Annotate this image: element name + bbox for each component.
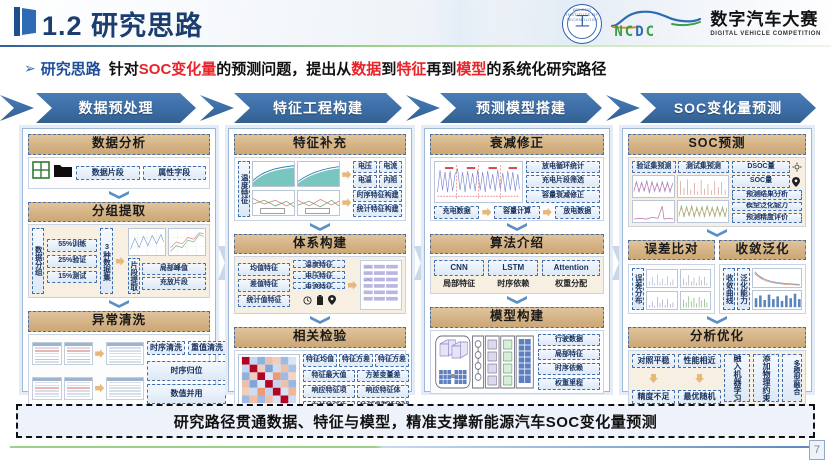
down-chevron-icon-1 (108, 190, 130, 201)
pill-stat-feature[interactable]: 统计值特征 (238, 295, 290, 308)
subtitle-h4: 模型 (456, 58, 486, 79)
pill-attribute-field[interactable]: 属性字段 (143, 166, 207, 180)
table-thumb-4 (32, 377, 62, 400)
flow-arrow-icon-1 (116, 257, 125, 266)
page-title: 1.2 研究思路 (42, 4, 203, 43)
pill-algo-cnn[interactable]: CNN (434, 260, 484, 276)
section-title-convergence: 收敛泛化 (719, 240, 806, 261)
section-title-group-extraction: 分组提取 (28, 202, 210, 223)
section-title-model-build: 模型构建 (430, 307, 604, 328)
section-body-analysis-optimization: 对照平稳 性能相近 精度不足 最优随机 融入机器学习 添加物理约束 多模型融合 (628, 350, 806, 406)
chart-feature-b (297, 161, 340, 187)
subtitle-h2: 数据 (351, 58, 381, 79)
pill-insufficient-accuracy[interactable]: 精度不足 (632, 390, 675, 404)
flow-arrow-icon-7 (482, 208, 491, 217)
section-title-system-build: 体系构建 (234, 234, 406, 255)
battery-icon (317, 292, 323, 310)
pill-voltage-feature[interactable]: 电压特征 (293, 271, 345, 279)
stage-banner-3[interactable]: 预测模型搭建 (440, 93, 602, 123)
pill-driving-data[interactable]: 行驶数据 (538, 334, 600, 346)
pill-physical-constraint[interactable]: 添加物理约束 (753, 354, 779, 402)
table-thumb-6 (106, 377, 144, 400)
network-diagram (434, 334, 535, 390)
footer-divider (10, 446, 822, 448)
gear-icon (792, 161, 802, 174)
pill-corr-7[interactable]: 响应特征体 (357, 385, 409, 398)
table-thumb-5 (64, 377, 94, 400)
pill-soc[interactable]: SOC量 (732, 175, 790, 188)
column-feature-engineering: 特征补充 温度特征 (228, 128, 412, 392)
subtitle-p1: 针对 (109, 58, 139, 79)
pill-dsoc[interactable]: DSOC量 (732, 161, 790, 174)
pill-charge-discharge-segment[interactable]: 充放片段 (142, 277, 206, 290)
pipeline-columns: 数据分析 数据片段 属性字段 分组提取 数据分组 55%训练 (0, 128, 831, 396)
section-title-algorithm-intro: 算法介绍 (430, 234, 604, 255)
pill-statistic-feature-build[interactable]: 统计特征构建 (353, 204, 402, 216)
subtitle-row: ➢ 研究思路 针对 SOC变化量 的预测问题，提出从 数据 到 特征 再到 模型… (0, 52, 831, 84)
subtitle-label: 研究思路 (41, 58, 101, 79)
pill-valid-split[interactable]: 25%验证 (47, 255, 97, 268)
conclusion-banner: 研究路径贯通数据、特征与模型，精准支撑新能源汽车SOC变化量预测 (16, 404, 815, 438)
pill-current[interactable]: 电流 (379, 161, 402, 174)
pill-accuracy-eval[interactable]: 预测精度评价 (732, 213, 802, 223)
stage-banner-row: 数据预处理 特征工程构建 预测模型搭建 SOC变化量预测 (0, 93, 831, 125)
pill-stable-contrast[interactable]: 对照平稳 (632, 354, 675, 368)
section-body-soc-prediction: 验证集预测 测试集预测 (628, 157, 806, 227)
subtitle-p2: 的预测问题，提出从 (216, 58, 351, 79)
pill-diff-feature[interactable]: 差值特征 (238, 279, 290, 292)
stage-chevron-spacer-3 (606, 95, 640, 121)
down-arrow-icon-1 (649, 370, 658, 388)
stage-chevron-spacer-0 (0, 95, 34, 121)
pill-local-feature[interactable]: 局部特征 (538, 349, 600, 361)
pill-similar-performance[interactable]: 性能相近 (678, 354, 721, 368)
vlabel-generalization-ability: 泛化能力 (737, 268, 749, 310)
chart-feature-c (252, 190, 295, 216)
stage-chevron-spacer-1 (200, 95, 234, 121)
chart-soc-b (677, 175, 729, 198)
table-thumb-3 (106, 342, 144, 365)
pill-capacity-calc[interactable]: 容量计算 (494, 206, 539, 219)
flow-arrow-icon-3 (95, 384, 104, 393)
chart-generalization-bars (752, 290, 803, 310)
correlation-heatmap (238, 354, 300, 410)
brand-name-en: DIGITAL VEHICLE COMPETITION (710, 31, 821, 37)
pill-corr-1[interactable]: 特征均值 (303, 354, 337, 367)
section-title-correlation-test: 相关检验 (234, 327, 406, 348)
pill-resistance[interactable]: 内阻 (379, 175, 402, 188)
pill-time-dependency[interactable]: 时序依赖 (538, 363, 600, 375)
pill-current-feature[interactable]: 电流特征 (293, 282, 345, 290)
down-chevron-icon-8 (706, 315, 728, 326)
section-title-feature-supplement: 特征补充 (234, 134, 406, 155)
table-thumb-1 (32, 342, 62, 365)
pill-timeseries-feature-build[interactable]: 时序特征构建 (353, 190, 402, 202)
subtitle-p3: 到 (381, 58, 396, 79)
header-sheen-1 (430, 0, 490, 47)
section-body-algorithm-intro: CNN 局部特征 LSTM 时序依赖 Attention 权重分配 (430, 256, 604, 294)
page-number: 7 (809, 440, 825, 460)
algo-cnn-desc: 局部特征 (434, 278, 484, 290)
pill-local-peak[interactable]: 局部峰值 (142, 263, 206, 276)
section-body-error-comparison: 误差分布 (628, 264, 715, 314)
pill-charge-segment-filter[interactable]: 充电片段筛选 (526, 175, 600, 188)
chart-error-a (646, 269, 677, 288)
chart-error-d (680, 291, 711, 310)
down-chevron-icon-3 (309, 222, 331, 233)
table-thumb-2 (64, 342, 94, 365)
pill-train-split[interactable]: 55%训练 (47, 239, 97, 252)
pill-discharge-data[interactable]: 放电数据 (555, 206, 600, 219)
section-title-error-comparison: 误差比对 (628, 240, 715, 261)
down-chevron-icon-6 (506, 295, 528, 306)
pill-charge-data[interactable]: 充电数据 (434, 206, 479, 219)
pill-mean-feature[interactable]: 均值特征 (238, 263, 290, 276)
pill-result-analysis[interactable]: 预测结果分析 (732, 190, 802, 200)
chart-soc-d (677, 200, 729, 223)
column-prediction-model: 衰减修正 (424, 128, 610, 392)
pill-data-segment[interactable]: 数据片段 (76, 166, 140, 180)
section-title-soc-prediction: SOC预测 (628, 134, 806, 155)
pill-validation-prediction[interactable]: 验证集预测 (632, 161, 676, 174)
section-body-feature-supplement: 温度特征 (234, 157, 406, 221)
feature-matrix-thumb (360, 260, 402, 310)
pill-generalization[interactable]: 模型泛化能力 (732, 202, 802, 212)
chart-segment-b (168, 228, 206, 256)
pill-corr-5[interactable]: 方差变量差 (357, 370, 409, 383)
pill-corr-4[interactable]: 特征最大值 (303, 370, 355, 383)
pill-algo-lstm[interactable]: LSTM (488, 260, 538, 276)
pill-test-prediction[interactable]: 测试集预测 (678, 161, 729, 174)
subtitle-p5: 的系统化研究路径 (486, 58, 606, 79)
pill-corr-3[interactable]: 特征方差 (375, 354, 409, 367)
flow-arrow-icon-6 (348, 281, 357, 290)
section-title-data-analysis: 数据分析 (28, 134, 210, 155)
down-chevron-icon-7 (706, 228, 728, 239)
pill-timeseries-clean[interactable]: 时序清洗 (147, 341, 185, 355)
ncdc-wordmark: NCDC (614, 24, 656, 40)
clock-icon (303, 292, 312, 310)
bullet-arrow-icon: ➢ (24, 60, 36, 77)
pill-weight-mileage[interactable]: 权重里程 (538, 378, 600, 390)
pill-timeseries-align[interactable]: 时序归位 (147, 361, 226, 381)
algo-lstm-desc: 时序依赖 (488, 278, 538, 290)
logo-group: BEIJING INSTITUTE OF TECHNOLOGY 工 NCDC 数… (562, 3, 825, 45)
down-arrow-icon-2 (695, 370, 704, 388)
ncdc-logo-icon: NCDC (608, 4, 704, 44)
pill-ml-fusion[interactable]: 融入机器学习 (724, 354, 750, 402)
vlabel-temperature-feature: 温度特征 (238, 161, 250, 217)
section-body-data-analysis: 数据片段 属性字段 (28, 157, 210, 189)
down-chevron-icon-5 (506, 222, 528, 233)
vlabel-multi-model-fusion: 多模型融合 (782, 354, 802, 402)
section-title-analysis-optimization: 分析优化 (628, 327, 806, 348)
vlabel-error-distribution: 误差分布 (632, 268, 644, 310)
subtitle-p4: 再到 (426, 58, 456, 79)
page-header: 1.2 研究思路 BEIJING INSTITUTE OF TECHNOLOGY… (0, 0, 831, 47)
section-title-anomaly-cleaning: 异常清洗 (28, 311, 210, 332)
chart-error-c (646, 291, 677, 310)
section-title-degradation-correction: 衰减修正 (430, 134, 604, 155)
column-data-preprocessing: 数据分析 数据片段 属性字段 分组提取 数据分组 55%训练 (22, 128, 216, 392)
vlabel-three-datasets: 3种数据集 (100, 228, 112, 294)
vlabel-data-grouping: 数据分组 (32, 228, 44, 294)
flow-arrow-icon-5 (342, 198, 351, 207)
flow-arrow-icon-2 (95, 349, 104, 358)
section-body-system-build: 均值特征 差值特征 统计值特征 温度特征 电压特征 电流特征 (234, 256, 406, 314)
down-chevron-icon-4 (309, 315, 331, 326)
pill-test-split[interactable]: 15%测试 (47, 271, 97, 284)
pill-capacity-fade-correction[interactable]: 容量衰减修正 (526, 190, 600, 203)
pill-optimal-random[interactable]: 最优随机 (678, 390, 721, 404)
chart-degradation (434, 161, 523, 203)
column-soc-prediction: SOC预测 验证集预测 测试集预测 (622, 128, 812, 392)
chart-error-b (680, 269, 711, 288)
university-seal-icon: BEIJING INSTITUTE OF TECHNOLOGY 工 (562, 4, 602, 44)
section-body-group-extraction: 数据分组 55%训练 25%验证 15%测试 3种数据集 (28, 224, 210, 298)
grid-icon (32, 161, 50, 184)
seal-glyph: 工 (563, 14, 601, 29)
vlabel-convergence-curve: 收敛曲线 (723, 268, 735, 310)
down-chevron-icon-2 (108, 299, 130, 310)
chart-segment-a (128, 228, 166, 256)
pill-value-reuse[interactable]: 数值并用 (147, 384, 226, 404)
pill-corr-6[interactable]: 响应特征项 (303, 385, 355, 398)
section-body-degradation-correction: 放电循环统计 充电片段筛选 容量衰减修正 充电数据 容量计算 放电数据 (430, 157, 604, 221)
stage-banner-1[interactable]: 数据预处理 (36, 93, 196, 123)
brand-name-cn: 数字汽车大赛 (710, 11, 818, 28)
section-body-anomaly-cleaning: 时序清洗 重值清洗 时序归位 数值并用 (28, 334, 210, 408)
section-body-model-build: 行驶数据 局部特征 时序依赖 权重里程 (430, 330, 604, 394)
pill-discharge-cycle-stat[interactable]: 放电循环统计 (526, 161, 600, 174)
flow-arrow-icon-4 (342, 170, 351, 179)
pill-voltage[interactable]: 电压 (353, 161, 376, 174)
chart-soc-a (632, 175, 675, 198)
chart-soc-c (632, 200, 675, 223)
pill-corr-2[interactable]: 特征方差 (339, 354, 373, 367)
title-marker-icon (14, 7, 36, 36)
folder-icon (53, 162, 73, 183)
flow-arrow-icon-8 (543, 208, 552, 217)
location-icon (328, 292, 336, 310)
pill-temp-feature[interactable]: 温度特征 (293, 260, 345, 268)
stage-banner-2[interactable]: 特征工程构建 (234, 93, 402, 123)
stage-chevron-spacer-2 (406, 95, 440, 121)
chart-convergence (752, 268, 803, 288)
subtitle-h1: SOC变化量 (139, 58, 217, 79)
pill-algo-attention[interactable]: Attention (542, 260, 600, 276)
vlabel-segment-extraction: 片段提取 (128, 258, 140, 294)
chart-feature-d (297, 190, 340, 216)
pill-temperature[interactable]: 电温 (353, 175, 376, 188)
stage-banner-4[interactable]: SOC变化量预测 (640, 93, 816, 123)
subtitle-h3: 特征 (396, 58, 426, 79)
algo-attention-desc: 权重分配 (542, 278, 600, 290)
chart-feature-a (252, 161, 295, 187)
section-body-convergence: 收敛曲线 泛化能力 (719, 264, 806, 314)
pill-duplicate-clean[interactable]: 重值清洗 (188, 341, 226, 355)
location-icon-2 (792, 175, 802, 188)
